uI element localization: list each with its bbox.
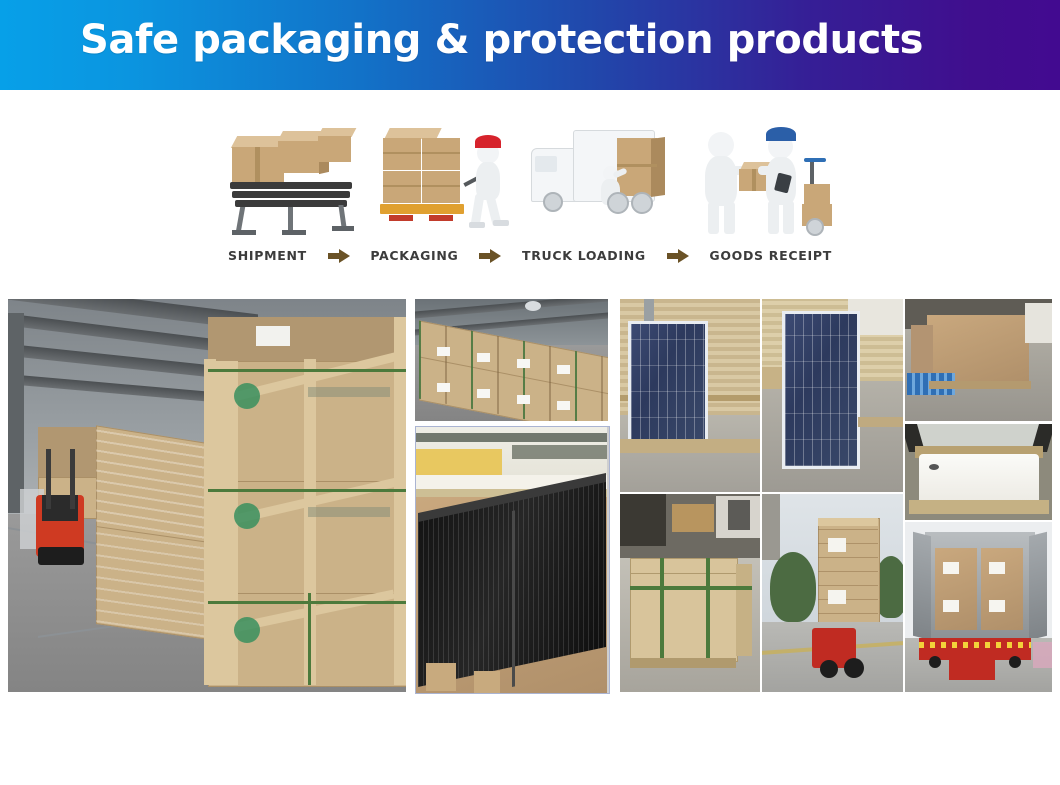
gallery-photo-black-panels[interactable] — [415, 426, 610, 694]
infographic-icon-row — [228, 118, 832, 240]
page-title: Safe packaging & protection products — [80, 17, 923, 63]
conveyor-boxes-icon — [228, 122, 356, 240]
gallery-photo-carton-blue-pallet[interactable] — [905, 299, 1052, 421]
gallery-photo-blue-panel-pallets[interactable] — [620, 299, 760, 492]
gallery-photo-warehouse-crates[interactable] — [8, 299, 406, 692]
gallery-photo-forklift-outdoor[interactable] — [762, 494, 903, 692]
stage-label-packaging: PACKAGING — [370, 248, 458, 263]
infographic-label-row: SHIPMENT PACKAGING TRUCK LOADING GOODS R… — [228, 248, 832, 263]
process-infographic: SHIPMENT PACKAGING TRUCK LOADING GOODS R… — [228, 118, 832, 286]
gallery-photo-carton-pallets[interactable] — [415, 299, 608, 421]
arrow-right-icon — [667, 249, 689, 263]
stage-label-shipment: SHIPMENT — [228, 248, 307, 263]
header-banner: Safe packaging & protection products — [0, 0, 1060, 90]
pallet-jack-worker-icon — [377, 122, 509, 240]
stage-label-truck-loading: TRUCK LOADING — [522, 248, 646, 263]
truck-loading-icon — [531, 122, 671, 240]
gallery-photo-wooden-crate-straps[interactable] — [620, 494, 760, 692]
arrow-right-icon — [479, 249, 501, 263]
gallery-photo-mono-panel-outdoor[interactable] — [762, 299, 903, 492]
arrow-right-icon — [328, 249, 350, 263]
gallery-photo-container-loading[interactable] — [905, 522, 1052, 692]
stage-label-goods-receipt: GOODS RECEIPT — [709, 248, 832, 263]
gallery-photo-white-slab-crate[interactable] — [905, 424, 1052, 520]
handover-parcel-icon — [692, 122, 832, 240]
